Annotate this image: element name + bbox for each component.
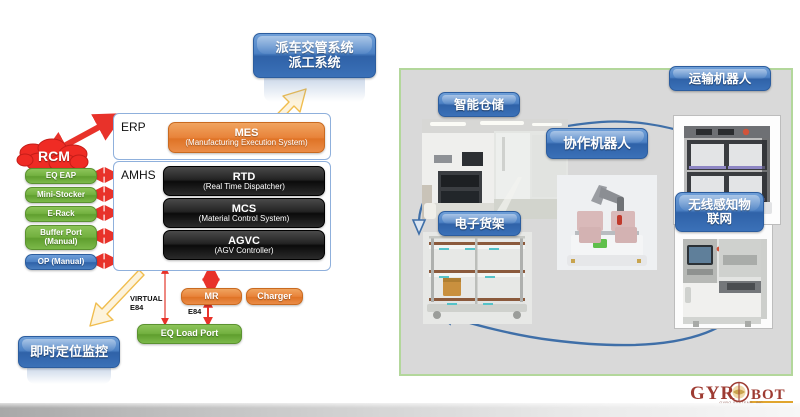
arrow-equipment-links — [96, 175, 113, 261]
smart-warehouse-label: 智能仓储 — [454, 98, 504, 112]
wireless-iot-label-line2: 联网 — [688, 212, 751, 226]
rcm-label: RCM — [16, 138, 92, 173]
realtime-locating-label: 即时定位监控 — [30, 345, 108, 360]
collaborative-robot-label-box[interactable]: 协作机器人 — [546, 128, 648, 159]
electronic-rack-photo-content — [423, 232, 532, 324]
wireless-iot-label-box[interactable]: 无线感知物 联网 — [675, 192, 764, 232]
eq-load-port-box[interactable]: EQ Load Port — [137, 324, 242, 344]
agvc-title: AGVC — [228, 235, 260, 247]
architecture-diagram: 派车交管系统 派工系统 RCM ERP MES (Manufacturing E… — [0, 0, 390, 417]
dispatch-system-line2: 派工系统 — [275, 56, 353, 71]
buffer-port-label-line2: (Manual) — [45, 238, 78, 247]
dispatch-system-line1: 派车交管系统 — [275, 41, 353, 56]
e-rack-box[interactable]: E-Rack — [25, 206, 97, 222]
bottom-gradient-bar — [0, 403, 800, 417]
cobot-agv-photo — [557, 175, 657, 270]
op-manual-box[interactable]: OP (Manual) — [25, 254, 97, 270]
e84-label: E84 — [188, 307, 201, 316]
eq-load-port-label: EQ Load Port — [161, 329, 219, 339]
cobot-agv-photo-content — [557, 175, 657, 270]
iot-equipment-photo-content — [675, 225, 772, 328]
transport-robot-label-box[interactable]: 运输机器人 — [669, 66, 771, 91]
mcs-subtitle: (Material Control System) — [199, 215, 290, 224]
realtime-locating-box[interactable]: 即时定位监控 — [18, 336, 120, 368]
solution-showcase-panel: 智能仓储 运输机器人 协作机器人 电子货架 无线感知物 联网 — [399, 68, 793, 376]
collaborative-robot-label: 协作机器人 — [563, 136, 631, 151]
charger-box[interactable]: Charger — [246, 288, 303, 305]
agvc-subtitle: (AGV Controller) — [214, 247, 273, 256]
agvc-box[interactable]: AGVC (AGV Controller) — [163, 230, 325, 260]
erp-panel-label: ERP — [121, 120, 146, 134]
buffer-port-box[interactable]: Buffer Port (Manual) — [25, 225, 97, 250]
virtual-e84-label: VIRTUAL E84 — [130, 294, 163, 313]
rtd-box[interactable]: RTD (Real Time Dispatcher) — [163, 166, 325, 196]
rtd-subtitle: (Real Time Dispatcher) — [203, 183, 285, 192]
mcs-title: MCS — [232, 203, 256, 215]
virtual-e84-line2: E84 — [130, 303, 163, 312]
mr-label: MR — [205, 292, 219, 302]
mcs-box[interactable]: MCS (Material Control System) — [163, 198, 325, 228]
electronic-rack-label-box[interactable]: 电子货架 — [438, 211, 521, 236]
op-manual-label: OP (Manual) — [38, 258, 85, 267]
mes-subtitle: (Manufacturing Execution System) — [182, 139, 310, 148]
mini-stocker-label: Mini-Stocker — [37, 191, 85, 200]
virtual-e84-line1: VIRTUAL — [130, 294, 163, 303]
mes-box[interactable]: MES (Manufacturing Execution System) — [168, 122, 325, 153]
electronic-rack-label: 电子货架 — [454, 217, 504, 231]
charger-label: Charger — [257, 292, 292, 302]
rtd-title: RTD — [233, 171, 256, 183]
e-rack-label: E-Rack — [47, 210, 74, 219]
rcm-cloud[interactable]: RCM — [16, 138, 92, 173]
dispatch-system-box[interactable]: 派车交管系统 派工系统 — [253, 33, 376, 78]
mr-box[interactable]: MR — [181, 288, 242, 305]
amhs-panel-label: AMHS — [121, 168, 156, 182]
smart-warehouse-label-box[interactable]: 智能仓储 — [438, 92, 520, 117]
iot-equipment-photo — [675, 225, 772, 328]
electronic-rack-photo — [423, 232, 532, 324]
mini-stocker-box[interactable]: Mini-Stocker — [25, 187, 97, 203]
wireless-iot-label-line1: 无线感知物 — [688, 198, 751, 212]
transport-robot-label: 运输机器人 — [689, 72, 752, 86]
